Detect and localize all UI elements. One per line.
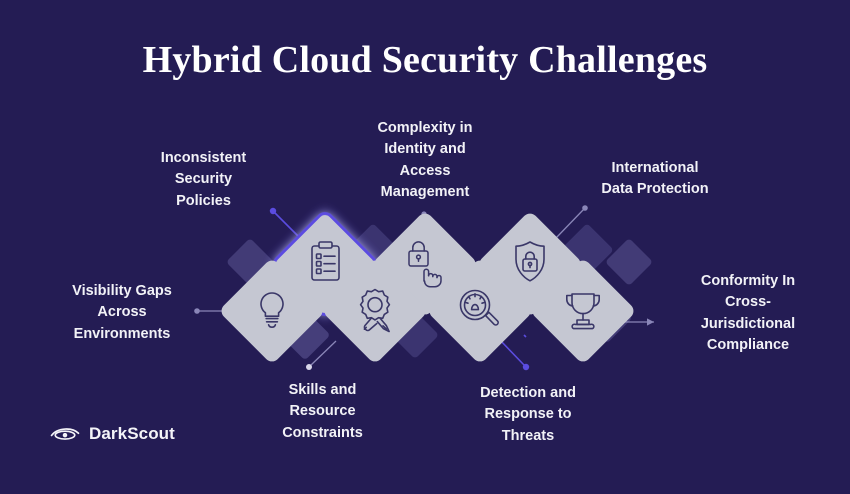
label-international-data-protection: International Data Protection [560, 158, 750, 201]
infographic-canvas: Hybrid Cloud Security Challenges [0, 0, 850, 494]
label-inconsistent-security-policies: Inconsistent Security Policies [116, 148, 291, 212]
label-skills-and-resource-constraints: Skills and Resource Constraints [240, 380, 405, 444]
eye-logo-icon [50, 424, 80, 444]
label-conformity-in-cross-jurisdictional-compliance: Conformity In Cross- Jurisdictional Comp… [650, 271, 846, 357]
label-complexity-in-identity-and-access-management: Complexity in Identity and Access Manage… [340, 118, 510, 204]
brand-logo: DarkScout [50, 424, 175, 444]
label-detection-and-response-to-threats: Detection and Response to Threats [443, 383, 613, 447]
diagram-layer [0, 0, 850, 494]
label-visibility-gaps: Visibility Gaps Across Environments [22, 281, 222, 345]
brand-logo-text: DarkScout [89, 424, 175, 444]
